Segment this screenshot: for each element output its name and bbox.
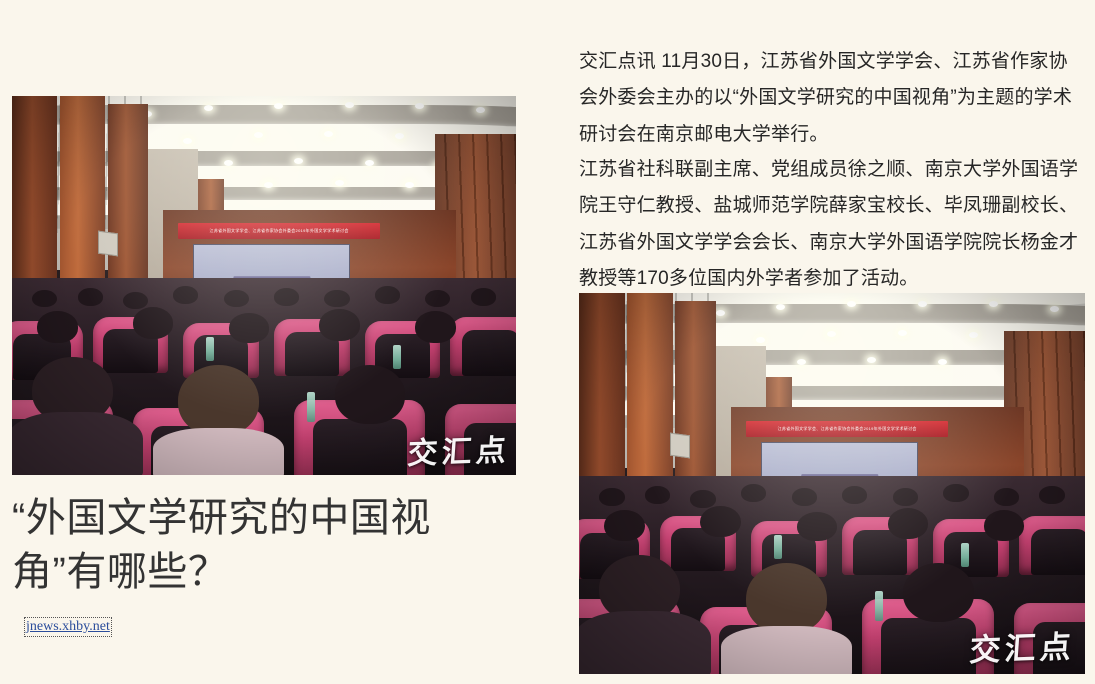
audience-head bbox=[690, 490, 715, 508]
ceiling-lamp bbox=[797, 359, 806, 365]
source-link-container: jnews.xhby.net bbox=[24, 617, 112, 637]
ceiling-lamp bbox=[1050, 306, 1059, 312]
audience-head bbox=[425, 290, 450, 308]
audience-head bbox=[224, 290, 249, 308]
audience-head bbox=[274, 288, 299, 306]
audience-head bbox=[37, 311, 77, 343]
audience-head bbox=[604, 510, 644, 542]
wall-speaker bbox=[670, 433, 690, 459]
audience-head bbox=[229, 313, 269, 343]
audience-head bbox=[173, 286, 198, 304]
audience-head bbox=[319, 309, 359, 341]
audience-head bbox=[123, 292, 148, 310]
audience-head bbox=[797, 512, 837, 542]
audience-head bbox=[599, 488, 624, 506]
watermark: 交汇点 bbox=[968, 621, 1076, 670]
ceiling-lamp bbox=[345, 102, 354, 108]
audience-head bbox=[178, 365, 259, 436]
audience-head bbox=[645, 486, 670, 504]
audience-head bbox=[994, 488, 1019, 506]
watermark: 交汇点 bbox=[406, 425, 511, 473]
stage-banner-text: 江苏省外国文学学会、江苏省作家协会外委会2019年外国文学学术研讨会 bbox=[210, 228, 349, 234]
ceiling-lamp bbox=[918, 301, 927, 307]
stage-banner-text: 江苏省外国文学学会、江苏省作家协会外委会2019年外国文学学术研讨会 bbox=[778, 426, 917, 432]
hero-image: 江苏省外国文学学会、江苏省作家协会外委会2019年外国文学学术研讨会 bbox=[12, 96, 516, 475]
audience-chair bbox=[1019, 516, 1085, 575]
audience-head bbox=[335, 365, 406, 424]
audience-head bbox=[746, 563, 827, 634]
ceiling-lamp bbox=[756, 337, 765, 343]
water-bottle bbox=[961, 543, 969, 567]
audience-body bbox=[12, 412, 143, 475]
ceiling-lamp bbox=[827, 331, 836, 337]
audience-head bbox=[700, 506, 740, 538]
ceiling-lamp bbox=[183, 138, 192, 144]
water-bottle bbox=[393, 345, 401, 369]
article-page: 江苏省外国文学学会、江苏省作家协会外委会2019年外国文学学术研讨会 bbox=[0, 0, 1095, 684]
page-title: “外国文学研究的中国视角”有哪些？ bbox=[12, 492, 512, 599]
ceiling-lamp bbox=[938, 359, 947, 365]
audience-head bbox=[133, 307, 173, 339]
left-column: 江苏省外国文学学会、江苏省作家协会外委会2019年外国文学学术研讨会 bbox=[12, 0, 517, 684]
stage-banner: 江苏省外国文学学会、江苏省作家协会外委会2019年外国文学学术研讨会 bbox=[178, 223, 380, 239]
audience-head bbox=[32, 290, 57, 308]
audience-head bbox=[943, 484, 968, 502]
audience-chair bbox=[450, 317, 516, 376]
ceiling-lamp bbox=[264, 182, 273, 188]
ceiling-lamp bbox=[969, 332, 978, 338]
stage-banner: 江苏省外国文学学会、江苏省作家协会外委会2019年外国文学学术研讨会 bbox=[746, 421, 948, 437]
audience-head bbox=[78, 288, 103, 306]
audience-head bbox=[1039, 486, 1064, 504]
water-bottle bbox=[875, 591, 883, 621]
ceiling-lamp bbox=[274, 103, 283, 109]
water-bottle bbox=[774, 535, 782, 559]
ceiling-lamp bbox=[335, 180, 344, 186]
source-link[interactable]: jnews.xhby.net bbox=[24, 617, 112, 637]
wall-speaker bbox=[98, 231, 118, 257]
ceiling-lamp bbox=[415, 103, 424, 109]
right-column: 交汇点讯 11月30日，江苏省外国文学学会、江苏省作家协会外委会主办的以“外国文… bbox=[579, 0, 1085, 684]
article-paragraph-1: 交汇点讯 11月30日，江苏省外国文学学会、江苏省作家协会外委会主办的以“外国文… bbox=[579, 44, 1085, 153]
audience-body bbox=[721, 626, 853, 674]
audience-head bbox=[984, 510, 1024, 542]
audience-head bbox=[741, 484, 766, 502]
conference-hall-scene: 江苏省外国文学学会、江苏省作家协会外委会2019年外国文学学术研讨会 bbox=[12, 96, 516, 475]
article-paragraph-2: 江苏省社科联副主席、党组成员徐之顺、南京大学外国语学院王守仁教授、盐城师范学院薛… bbox=[579, 152, 1085, 298]
audience-head bbox=[415, 311, 455, 343]
audience-head bbox=[888, 508, 928, 540]
water-bottle bbox=[206, 337, 214, 361]
audience-head bbox=[903, 563, 974, 622]
audience-head bbox=[324, 290, 349, 308]
audience-head bbox=[842, 486, 867, 504]
audience-head bbox=[893, 488, 918, 506]
ceiling-lamp bbox=[716, 310, 725, 316]
conference-hall-scene: 江苏省外国文学学会、江苏省作家协会外委会2019年外国文学学术研讨会 bbox=[579, 293, 1085, 674]
audience-body bbox=[153, 428, 284, 475]
audience-body bbox=[579, 611, 711, 674]
audience-head bbox=[792, 488, 817, 506]
ceiling-lamp bbox=[898, 330, 907, 336]
water-bottle bbox=[307, 392, 315, 422]
audience-head bbox=[471, 288, 496, 306]
audience-head bbox=[375, 286, 400, 304]
secondary-image: 江苏省外国文学学会、江苏省作家协会外委会2019年外国文学学术研讨会 bbox=[579, 293, 1085, 674]
ceiling-lamp bbox=[365, 160, 374, 166]
